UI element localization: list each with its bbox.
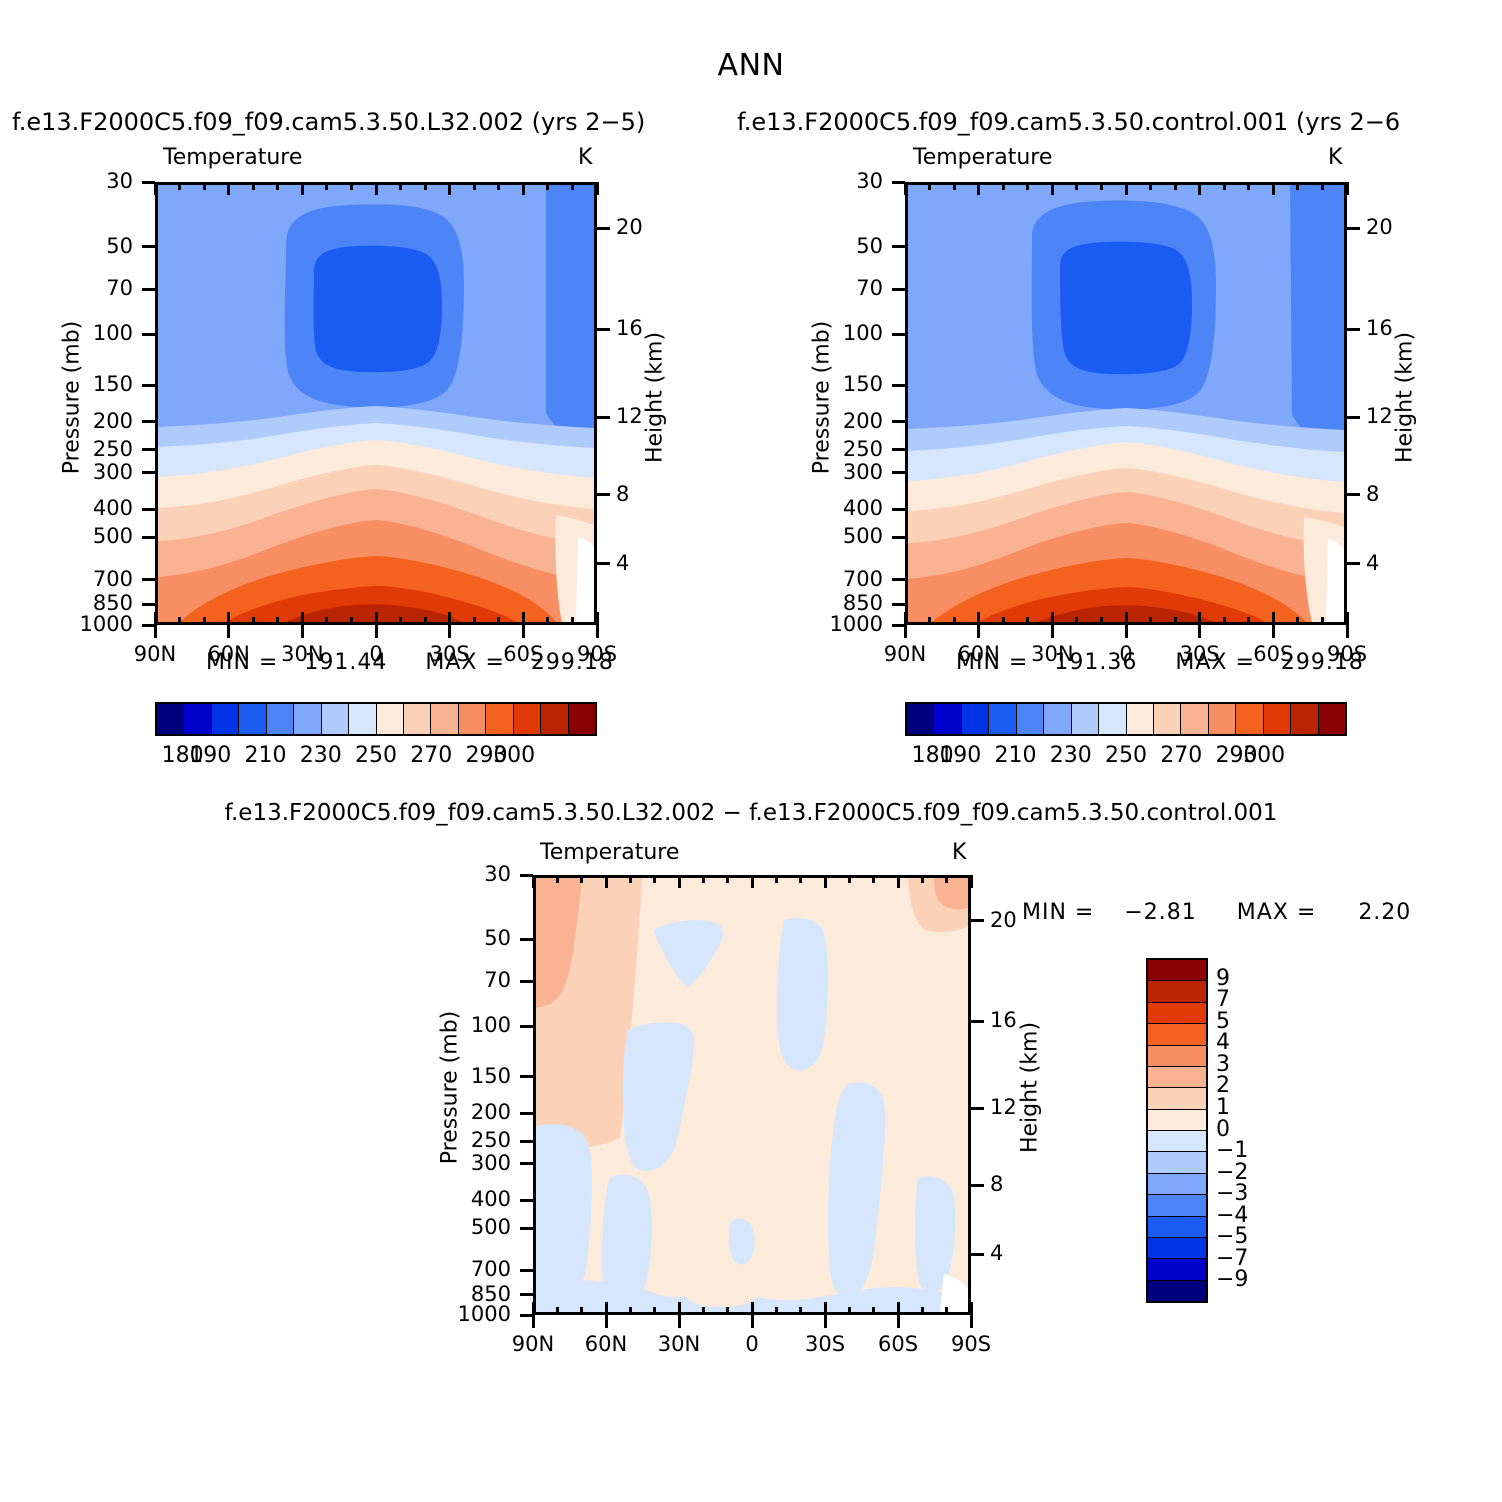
left-colorbar-cell-12	[486, 704, 513, 734]
right-pressure-ticklabel-700: 700	[843, 567, 883, 591]
right-lat-tick-90S	[1346, 625, 1349, 638]
left-lat-toptick-20	[325, 182, 328, 190]
diff-pressure-tick-50	[520, 938, 533, 941]
left-lat-bottomtick-50	[252, 617, 255, 625]
diff-lat-toptick--80	[945, 875, 948, 883]
right-colorbar-cell-5	[1044, 704, 1071, 734]
diff-max-label: MAX =	[1237, 900, 1317, 925]
left-lat-toptick-80	[178, 182, 181, 190]
left-height-tick-4	[597, 562, 610, 565]
diff-panel-variable-label: Temperature	[540, 840, 679, 865]
left-lat-tick-60N	[227, 625, 230, 638]
left-lat-bottomtick-40	[276, 617, 279, 625]
diff-contour-svg	[536, 878, 968, 1312]
right-lat-toptick--90	[1346, 182, 1349, 195]
right-pressure-tick-70	[892, 288, 905, 291]
left-lat-bottomtick--60	[522, 612, 525, 625]
right-lat-bottomtick-20	[1075, 617, 1078, 625]
left-height-ticklabel-12: 12	[616, 404, 643, 428]
diff-lat-tick-0	[751, 1315, 754, 1328]
left-pressure-tick-500	[142, 536, 155, 539]
diff-lat-tick-90S	[970, 1315, 973, 1328]
diff-lat-bottomtick-40	[653, 1307, 656, 1315]
right-colorbar-ticklabel-190: 190	[939, 743, 981, 768]
left-lat-toptick-90	[154, 182, 157, 195]
right-height-tick-12	[1347, 416, 1360, 419]
right-colorbar-ticklabel-300: 300	[1243, 743, 1285, 768]
diff-lat-ticklabel-90N: 90N	[512, 1332, 554, 1356]
left-lat-ticklabel-90S: 90S	[577, 642, 617, 666]
right-minmax-text: MIN = 191.36 MAX = 299.18	[956, 650, 1364, 675]
right-lat-toptick-50	[1002, 182, 1005, 190]
left-lat-toptick--30	[448, 182, 451, 195]
diff-colorbar-cell-5	[1148, 1067, 1206, 1088]
left-colorbar-cell-5	[294, 704, 321, 734]
left-lat-tick-90N	[154, 625, 157, 638]
diff-height-axis-label: Height (km)	[1018, 978, 1043, 1198]
left-pressure-tick-100	[142, 333, 155, 336]
diff-lat-toptick-70	[580, 875, 583, 883]
diff-lat-toptick--20	[799, 875, 802, 883]
left-lat-bottomtick--40	[473, 617, 476, 625]
right-lat-toptick-0	[1125, 182, 1128, 195]
right-colorbar	[905, 702, 1347, 736]
left-lat-bottomtick--80	[571, 617, 574, 625]
left-colorbar	[155, 702, 597, 736]
right-height-ticklabel-12: 12	[1366, 404, 1393, 428]
diff-lat-bottomtick--80	[945, 1307, 948, 1315]
diff-pressure-tick-850	[520, 1293, 533, 1296]
right-pressure-axis-label: Pressure (mb)	[810, 288, 835, 508]
right-lat-bottomtick-0	[1125, 612, 1128, 625]
right-colorbar-cell-13	[1264, 704, 1291, 734]
left-pressure-tick-250	[142, 448, 155, 451]
diff-lat-toptick-20	[702, 875, 705, 883]
right-lat-ticklabel-90S: 90S	[1327, 642, 1367, 666]
right-lat-bottomtick-60	[977, 612, 980, 625]
left-height-ticklabel-20: 20	[616, 215, 643, 239]
right-lat-bottomtick--40	[1223, 617, 1226, 625]
right-height-tick-16	[1347, 328, 1360, 331]
diff-colorbar-cell-13	[1148, 1238, 1206, 1259]
left-pressure-ticklabel-1000: 1000	[80, 612, 133, 636]
left-lat-toptick--40	[473, 182, 476, 190]
diff-lat-ticklabel-30S: 30S	[805, 1332, 845, 1356]
right-colorbar-ticklabel-250: 250	[1105, 743, 1147, 768]
diff-lat-toptick--60	[897, 875, 900, 888]
right-pressure-ticklabel-400: 400	[843, 496, 883, 520]
left-colorbar-cell-7	[349, 704, 376, 734]
left-lat-ticklabel-90N: 90N	[134, 642, 176, 666]
right-colorbar-cell-3	[989, 704, 1016, 734]
diff-lat-bottomtick--30	[824, 1302, 827, 1315]
right-lat-tick-60N	[977, 625, 980, 638]
diff-lat-bottomtick-20	[702, 1307, 705, 1315]
right-pressure-tick-300	[892, 471, 905, 474]
diff-lat-toptick-90	[532, 875, 535, 888]
left-pressure-tick-50	[142, 245, 155, 248]
diff-temperature-contour-plot	[533, 875, 971, 1315]
left-pressure-ticklabel-100: 100	[93, 321, 133, 345]
left-pressure-ticklabel-400: 400	[93, 496, 133, 520]
right-height-ticklabel-16: 16	[1366, 316, 1393, 340]
right-lat-toptick-90	[904, 182, 907, 195]
left-lat-toptick--80	[571, 182, 574, 190]
right-lat-bottomtick-50	[1002, 617, 1005, 625]
left-pressure-ticklabel-150: 150	[93, 372, 133, 396]
right-pressure-tick-700	[892, 578, 905, 581]
left-lat-toptick--20	[424, 182, 427, 190]
right-colorbar-ticklabel-230: 230	[1050, 743, 1092, 768]
right-pressure-ticklabel-500: 500	[843, 524, 883, 548]
diff-minmax-text: MIN = −2.81 MAX = 2.20	[1022, 900, 1411, 925]
left-lat-ticklabel-0: 0	[369, 642, 382, 666]
left-pressure-tick-200	[142, 420, 155, 423]
right-height-axis-label: Height (km)	[1393, 288, 1418, 508]
left-pressure-tick-400	[142, 508, 155, 511]
left-lat-bottomtick-10	[350, 617, 353, 625]
left-colorbar-cell-6	[322, 704, 349, 734]
diff-lat-bottomtick--10	[775, 1307, 778, 1315]
left-lat-toptick--90	[596, 182, 599, 195]
diff-colorbar-cell-14	[1148, 1259, 1206, 1280]
left-lat-tick-30N	[301, 625, 304, 638]
right-colorbar-cell-1	[934, 704, 961, 734]
diff-height-ticklabel-12: 12	[990, 1095, 1017, 1119]
left-lat-tick-90S	[596, 625, 599, 638]
right-lat-bottomtick--50	[1247, 617, 1250, 625]
left-contour-svg	[158, 185, 594, 622]
diff-height-ticklabel-8: 8	[990, 1172, 1003, 1196]
right-lat-toptick-40	[1026, 182, 1029, 190]
diff-lat-toptick--10	[775, 875, 778, 883]
right-colorbar-cell-14	[1291, 704, 1318, 734]
right-lat-bottomtick-80	[928, 617, 931, 625]
diff-colorbar-cell-1	[1148, 981, 1206, 1002]
right-pressure-ticklabel-250: 250	[843, 437, 883, 461]
right-lat-toptick-20	[1075, 182, 1078, 190]
diff-min-value: −2.81	[1124, 900, 1196, 925]
right-height-ticklabel-4: 4	[1366, 551, 1379, 575]
diff-lat-toptick--40	[848, 875, 851, 883]
diff-lat-toptick--70	[921, 875, 924, 883]
right-colorbar-cell-0	[907, 704, 934, 734]
diff-pressure-ticklabel-500: 500	[471, 1215, 511, 1239]
diff-colorbar-cell-7	[1148, 1110, 1206, 1131]
left-lat-bottomtick--50	[497, 617, 500, 625]
left-lat-toptick-0	[375, 182, 378, 195]
right-lat-toptick--70	[1296, 182, 1299, 190]
diff-lat-toptick-80	[556, 875, 559, 883]
diff-pressure-ticklabel-700: 700	[471, 1257, 511, 1281]
diff-lat-bottomtick--60	[897, 1302, 900, 1315]
left-lat-bottomtick--90	[596, 612, 599, 625]
diff-colorbar-cell-2	[1148, 1003, 1206, 1024]
diff-pressure-axis-label: Pressure (mb)	[438, 978, 463, 1198]
right-colorbar-cell-7	[1099, 704, 1126, 734]
left-colorbar-cell-9	[404, 704, 431, 734]
left-lat-tick-60S	[522, 625, 525, 638]
diff-pressure-ticklabel-1000: 1000	[458, 1302, 511, 1326]
right-pressure-ticklabel-30: 30	[856, 169, 883, 193]
right-lat-toptick--40	[1223, 182, 1226, 190]
diff-pressure-tick-500	[520, 1227, 533, 1230]
left-pressure-ticklabel-200: 200	[93, 409, 133, 433]
diff-lat-ticklabel-60S: 60S	[878, 1332, 918, 1356]
left-panel-variable-label: Temperature	[163, 145, 302, 170]
right-lat-toptick-60	[977, 182, 980, 195]
left-lat-ticklabel-60N: 60N	[207, 642, 249, 666]
right-lat-ticklabel-30S: 30S	[1180, 642, 1220, 666]
diff-lat-bottomtick-50	[629, 1307, 632, 1315]
right-lat-bottomtick--30	[1198, 612, 1201, 625]
right-colorbar-cell-10	[1181, 704, 1208, 734]
right-lat-bottomtick-10	[1100, 617, 1103, 625]
right-pressure-tick-500	[892, 536, 905, 539]
right-lat-toptick-30	[1051, 182, 1054, 195]
right-colorbar-cell-4	[1017, 704, 1044, 734]
diff-pressure-ticklabel-70: 70	[484, 968, 511, 992]
left-pressure-ticklabel-700: 700	[93, 567, 133, 591]
right-lat-tick-60S	[1272, 625, 1275, 638]
left-lat-bottomtick-70	[203, 617, 206, 625]
diff-lat-bottomtick-70	[580, 1307, 583, 1315]
left-lat-bottomtick--20	[424, 617, 427, 625]
left-colorbar-cell-13	[514, 704, 541, 734]
right-lat-toptick--10	[1149, 182, 1152, 190]
left-temperature-contour-plot	[155, 182, 597, 625]
diff-panel-units-label: K	[952, 840, 966, 865]
right-colorbar-ticklabel-210: 210	[995, 743, 1037, 768]
right-lat-bottomtick--70	[1296, 617, 1299, 625]
right-colorbar-cell-11	[1209, 704, 1236, 734]
right-pressure-tick-200	[892, 420, 905, 423]
right-lat-bottomtick--60	[1272, 612, 1275, 625]
diff-lat-ticklabel-60N: 60N	[585, 1332, 627, 1356]
left-colorbar-ticklabel-250: 250	[355, 743, 397, 768]
diff-lat-bottomtick-90	[532, 1302, 535, 1315]
diff-height-ticklabel-20: 20	[990, 908, 1017, 932]
right-lat-bottomtick-90	[904, 612, 907, 625]
right-pressure-ticklabel-300: 300	[843, 460, 883, 484]
diff-height-tick-20	[971, 919, 984, 922]
left-pressure-ticklabel-50: 50	[106, 234, 133, 258]
diff-lat-toptick-40	[653, 875, 656, 883]
right-pressure-ticklabel-150: 150	[843, 372, 883, 396]
left-panel-units-label: K	[578, 145, 592, 170]
figure-season-title: ANN	[718, 48, 785, 83]
left-colorbar-cell-8	[377, 704, 404, 734]
left-pressure-ticklabel-70: 70	[106, 276, 133, 300]
right-pressure-tick-250	[892, 448, 905, 451]
diff-lat-toptick--50	[872, 875, 875, 883]
right-pressure-tick-50	[892, 245, 905, 248]
right-height-ticklabel-8: 8	[1366, 482, 1379, 506]
diff-lat-tick-30S	[824, 1315, 827, 1328]
left-colorbar-ticklabel-230: 230	[300, 743, 342, 768]
left-height-ticklabel-4: 4	[616, 551, 629, 575]
right-lat-tick-90N	[904, 625, 907, 638]
left-panel-title: f.e13.F2000C5.f09_f09.cam5.3.50.L32.002 …	[12, 108, 645, 136]
left-colorbar-cell-3	[239, 704, 266, 734]
diff-lat-bottomtick-60	[605, 1302, 608, 1315]
diff-colorbar-cell-8	[1148, 1131, 1206, 1152]
diff-lat-toptick-60	[605, 875, 608, 888]
left-pressure-axis-label: Pressure (mb)	[60, 288, 85, 508]
diff-lat-ticklabel-30N: 30N	[658, 1332, 700, 1356]
left-lat-toptick--10	[399, 182, 402, 190]
diff-pressure-tick-250	[520, 1140, 533, 1143]
left-height-tick-16	[597, 328, 610, 331]
diff-max-value: 2.20	[1358, 900, 1411, 925]
left-lat-bottomtick-60	[227, 612, 230, 625]
right-lat-toptick-80	[928, 182, 931, 190]
diff-pressure-tick-700	[520, 1269, 533, 1272]
left-lat-toptick-50	[252, 182, 255, 190]
right-pressure-tick-100	[892, 333, 905, 336]
right-lat-ticklabel-60N: 60N	[957, 642, 999, 666]
left-colorbar-cell-1	[184, 704, 211, 734]
right-lat-toptick--30	[1198, 182, 1201, 195]
right-lat-bottomtick--20	[1174, 617, 1177, 625]
right-colorbar-cell-8	[1127, 704, 1154, 734]
right-pressure-ticklabel-50: 50	[856, 234, 883, 258]
right-colorbar-cell-12	[1236, 704, 1263, 734]
left-lat-bottomtick-80	[178, 617, 181, 625]
right-colorbar-cell-9	[1154, 704, 1181, 734]
left-lat-toptick--70	[546, 182, 549, 190]
right-lat-bottomtick--90	[1346, 612, 1349, 625]
left-lat-bottomtick-0	[375, 612, 378, 625]
left-colorbar-cell-0	[157, 704, 184, 734]
diff-pressure-ticklabel-250: 250	[471, 1128, 511, 1152]
diff-colorbar-cell-9	[1148, 1152, 1206, 1173]
right-pressure-tick-400	[892, 508, 905, 511]
left-height-tick-12	[597, 416, 610, 419]
left-height-axis-label: Height (km)	[643, 288, 668, 508]
diff-lat-toptick--30	[824, 875, 827, 888]
diff-lat-toptick-10	[726, 875, 729, 883]
left-pressure-tick-850	[142, 603, 155, 606]
right-pressure-ticklabel-100: 100	[843, 321, 883, 345]
left-height-tick-20	[597, 227, 610, 230]
left-height-tick-8	[597, 493, 610, 496]
diff-lat-bottomtick--20	[799, 1307, 802, 1315]
left-lat-toptick--50	[497, 182, 500, 190]
right-pressure-ticklabel-1000: 1000	[830, 612, 883, 636]
diff-lat-tick-60N	[605, 1315, 608, 1328]
right-lat-tick-30N	[1051, 625, 1054, 638]
diff-colorbar-ticklabel-14: −9	[1216, 1267, 1248, 1292]
left-lat-bottomtick-20	[325, 617, 328, 625]
right-colorbar-cell-2	[962, 704, 989, 734]
right-lat-tick-30S	[1198, 625, 1201, 638]
diff-pressure-ticklabel-100: 100	[471, 1013, 511, 1037]
left-pressure-tick-150	[142, 384, 155, 387]
right-lat-toptick--20	[1174, 182, 1177, 190]
left-pressure-tick-300	[142, 471, 155, 474]
left-pressure-ticklabel-250: 250	[93, 437, 133, 461]
diff-min-label: MIN =	[1022, 900, 1094, 925]
left-lat-toptick--60	[522, 182, 525, 195]
diff-lat-bottomtick-30	[678, 1302, 681, 1315]
left-pressure-ticklabel-300: 300	[93, 460, 133, 484]
right-height-tick-8	[1347, 493, 1360, 496]
diff-height-tick-12	[971, 1107, 984, 1110]
diff-lat-toptick-50	[629, 875, 632, 883]
diff-pressure-tick-400	[520, 1199, 533, 1202]
diff-colorbar-cell-15	[1148, 1281, 1206, 1301]
left-lat-bottomtick--30	[448, 612, 451, 625]
left-lat-tick-30S	[448, 625, 451, 638]
diff-pressure-tick-150	[520, 1075, 533, 1078]
right-contour-svg	[908, 185, 1344, 622]
diff-lat-bottomtick--50	[872, 1307, 875, 1315]
right-lat-bottomtick-40	[1026, 617, 1029, 625]
diff-lat-bottomtick-10	[726, 1307, 729, 1315]
diff-pressure-ticklabel-200: 200	[471, 1100, 511, 1124]
right-lat-toptick-10	[1100, 182, 1103, 190]
diff-height-ticklabel-16: 16	[990, 1008, 1017, 1032]
right-lat-ticklabel-90N: 90N	[884, 642, 926, 666]
right-height-ticklabel-20: 20	[1366, 215, 1393, 239]
right-lat-toptick-70	[953, 182, 956, 190]
left-pressure-ticklabel-500: 500	[93, 524, 133, 548]
left-lat-ticklabel-30S: 30S	[430, 642, 470, 666]
left-lat-bottomtick-90	[154, 612, 157, 625]
right-lat-bottomtick-70	[953, 617, 956, 625]
right-panel-variable-label: Temperature	[913, 145, 1052, 170]
right-lat-bottomtick--80	[1321, 617, 1324, 625]
diff-colorbar-cell-10	[1148, 1174, 1206, 1195]
diff-pressure-tick-300	[520, 1162, 533, 1165]
left-height-ticklabel-16: 16	[616, 316, 643, 340]
right-pressure-ticklabel-200: 200	[843, 409, 883, 433]
diff-lat-tick-30N	[678, 1315, 681, 1328]
left-lat-bottomtick--10	[399, 617, 402, 625]
diff-lat-bottomtick--70	[921, 1307, 924, 1315]
diff-panel-title: f.e13.F2000C5.f09_f09.cam5.3.50.L32.002 …	[225, 800, 1278, 826]
diff-pressure-ticklabel-300: 300	[471, 1151, 511, 1175]
diff-lat-toptick-30	[678, 875, 681, 888]
diff-lat-toptick-0	[751, 875, 754, 888]
diff-colorbar-cell-4	[1148, 1046, 1206, 1067]
diff-pressure-ticklabel-400: 400	[471, 1187, 511, 1211]
left-lat-toptick-60	[227, 182, 230, 195]
right-lat-ticklabel-60S: 60S	[1253, 642, 1293, 666]
right-temperature-contour-plot	[905, 182, 1347, 625]
right-lat-toptick--60	[1272, 182, 1275, 195]
left-lat-toptick-40	[276, 182, 279, 190]
diff-pressure-tick-200	[520, 1112, 533, 1115]
left-colorbar-cell-14	[541, 704, 568, 734]
right-pressure-ticklabel-70: 70	[856, 276, 883, 300]
left-pressure-tick-70	[142, 288, 155, 291]
left-pressure-ticklabel-30: 30	[106, 169, 133, 193]
diff-pressure-ticklabel-150: 150	[471, 1064, 511, 1088]
diff-height-tick-8	[971, 1184, 984, 1187]
diff-lat-toptick--90	[970, 875, 973, 888]
diff-colorbar-cell-0	[1148, 960, 1206, 981]
right-height-tick-20	[1347, 227, 1360, 230]
left-lat-toptick-10	[350, 182, 353, 190]
right-lat-bottomtick-30	[1051, 612, 1054, 625]
diff-height-tick-16	[971, 1020, 984, 1023]
left-colorbar-cell-11	[459, 704, 486, 734]
left-lat-toptick-70	[203, 182, 206, 190]
right-colorbar-cell-6	[1072, 704, 1099, 734]
left-lat-bottomtick--70	[546, 617, 549, 625]
